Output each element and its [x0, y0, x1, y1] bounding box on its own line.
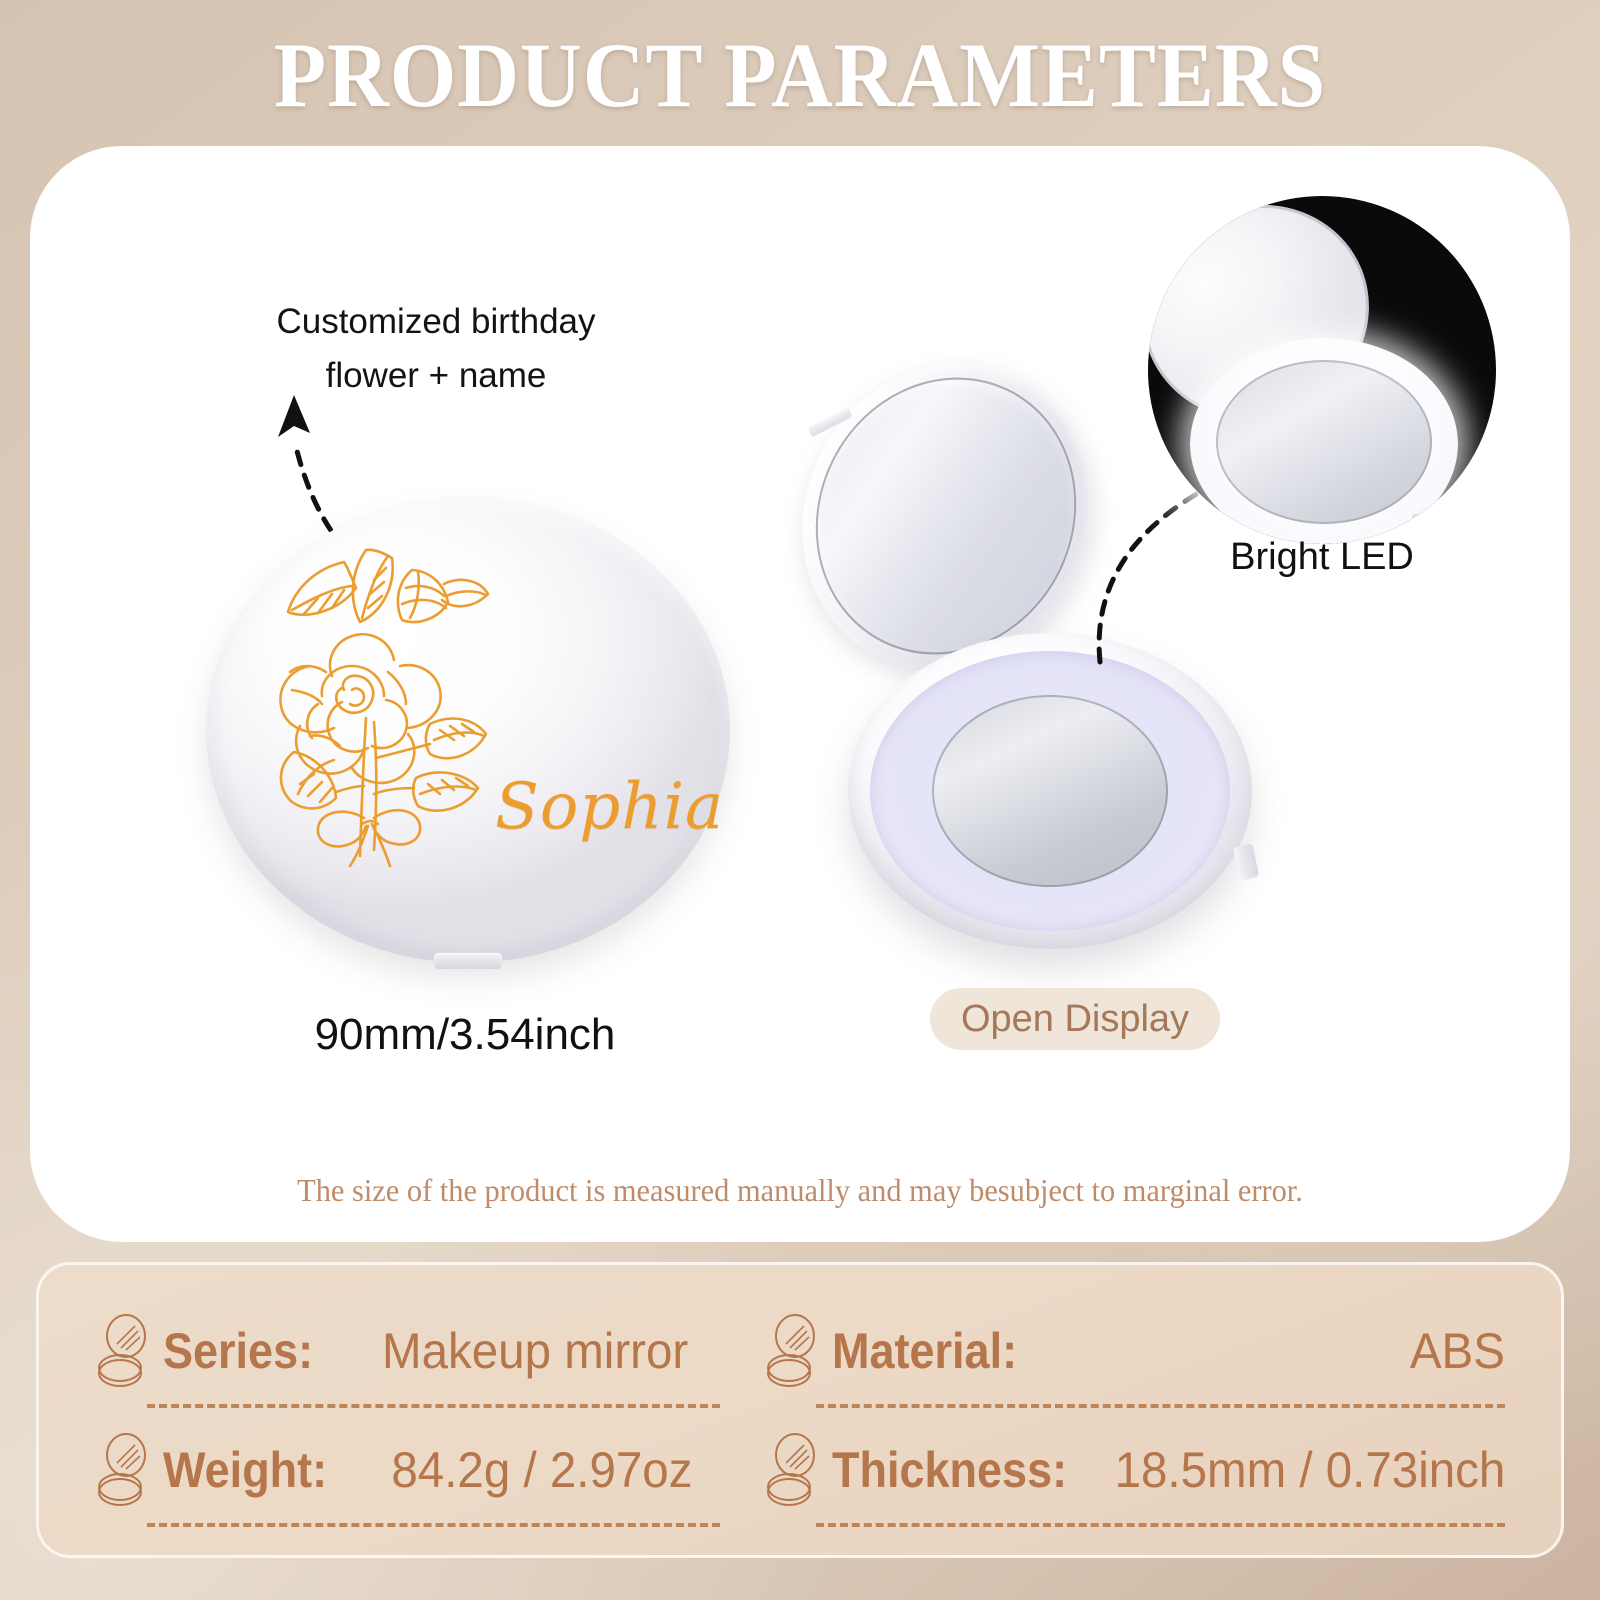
compact-mirror-icon: [764, 1433, 820, 1507]
base-side-tab: [1233, 843, 1260, 880]
spec-underline: [816, 1404, 1505, 1408]
annotation-line-1: Customized birthday: [276, 302, 595, 341]
spec-panel: Series: Makeup mirror Material: ABS Weig: [36, 1262, 1564, 1558]
compact-mirror-icon: [764, 1314, 820, 1388]
led-inset-glass: [1216, 360, 1432, 524]
base-mirror-glass: [932, 695, 1168, 887]
bright-led-label: Bright LED: [1148, 536, 1496, 579]
infographic-canvas: PRODUCT PARAMETERS Customized birthday f…: [0, 0, 1600, 1600]
mirror-base: [848, 633, 1252, 949]
spec-row-series: Series: Makeup mirror: [95, 1291, 720, 1410]
spec-underline: [816, 1523, 1505, 1527]
compact-mirror-icon: [95, 1433, 151, 1507]
spec-value: 84.2g / 2.97oz: [364, 1441, 720, 1499]
spec-underline: [147, 1404, 720, 1408]
dimension-value: 90mm/3.54inch: [303, 1010, 628, 1059]
page-title: PRODUCT PARAMETERS: [56, 22, 1544, 128]
spec-value: 18.5mm / 0.73inch: [1114, 1441, 1505, 1499]
spec-value: Makeup mirror: [349, 1322, 720, 1380]
dimension-label: 90mm/3.54inch: [185, 1010, 745, 1060]
measurement-disclaimer: The size of the product is measured manu…: [40, 1172, 1560, 1209]
spec-row-thickness: Thickness: 18.5mm / 0.73inch: [764, 1410, 1505, 1529]
spec-row-material: Material: ABS: [764, 1291, 1505, 1410]
engraved-name: Sophia: [495, 770, 724, 844]
compact-mirror-icon: [95, 1314, 151, 1388]
mirror-hinge: [808, 406, 853, 437]
spec-label: Series:: [163, 1322, 313, 1380]
spec-row-weight: Weight: 84.2g / 2.97oz: [95, 1410, 720, 1529]
spec-label: Weight:: [163, 1441, 327, 1499]
spec-value: ABS: [1061, 1322, 1505, 1380]
led-ring-mirror-icon: [1148, 196, 1496, 544]
led-inset-tab: [1412, 514, 1442, 530]
open-display-badge: Open Display: [930, 988, 1220, 1050]
spec-underline: [147, 1523, 720, 1527]
led-ring: [870, 651, 1230, 931]
spec-label: Material:: [832, 1322, 1017, 1380]
led-inset-base: [1190, 338, 1458, 544]
spec-label: Thickness:: [832, 1441, 1067, 1499]
